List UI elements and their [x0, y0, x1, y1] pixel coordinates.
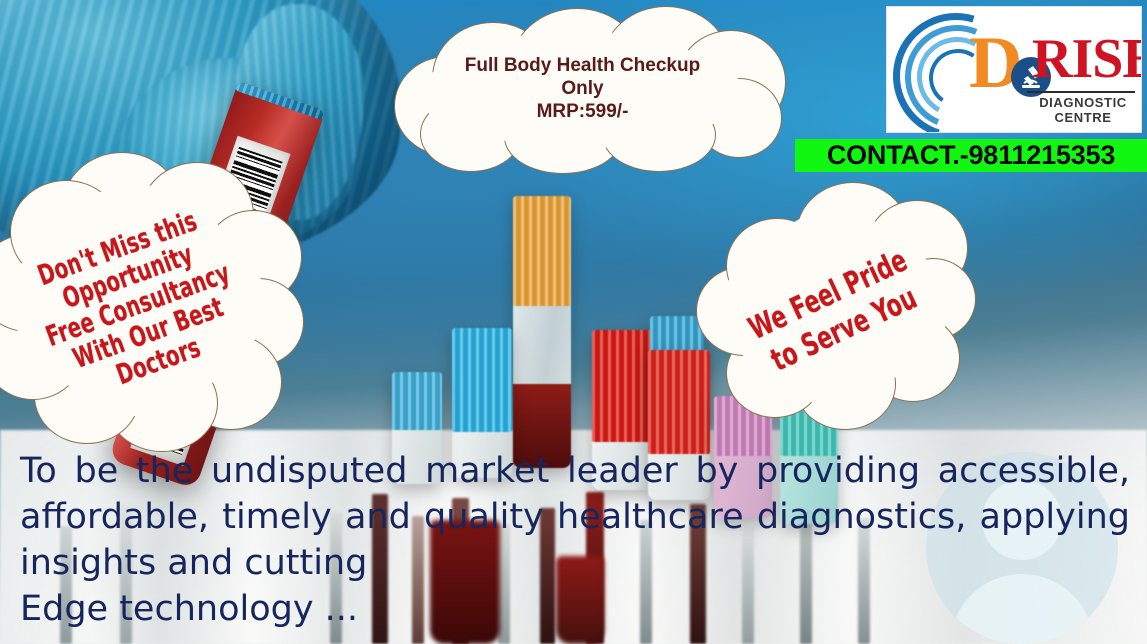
offer-line-3: MRP:599/- — [380, 100, 785, 123]
mission-body: To be the undisputed market leader by pr… — [20, 451, 1130, 583]
offer-line-1: Full Body Health Checkup — [380, 54, 785, 77]
brand-logo-panel: D RISE DIAGNOSTIC CENTRE — [886, 6, 1142, 133]
vial-cap — [513, 196, 571, 306]
logo-subtitle: DIAGNOSTIC CENTRE — [1027, 95, 1139, 125]
vial-cap — [592, 330, 654, 442]
vial-cap — [452, 328, 512, 432]
contact-bar[interactable]: CONTACT.-9811215353 — [795, 139, 1147, 172]
vial-orange-cap — [513, 196, 571, 468]
contact-text: CONTACT.-9811215353 — [827, 140, 1115, 171]
logo-wordmark-rise: RISE — [1032, 31, 1142, 87]
offer-cloud-bubble: Full Body Health Checkup Only MRP:599/- — [380, 4, 785, 172]
offer-line-2: Only — [380, 77, 785, 100]
right-cloud-bubble: We Feel Pride to Serve You — [700, 182, 972, 430]
offer-text-block: Full Body Health Checkup Only MRP:599/- — [380, 54, 785, 124]
mission-statement: To be the undisputed market leader by pr… — [20, 448, 1130, 632]
mission-last-line: Edge technology ... — [20, 586, 1130, 632]
promotional-poster: Full Body Health Checkup Only MRP:599/- … — [0, 0, 1147, 644]
left-cloud-bubble: Don't Miss this Opportunity Free Consult… — [0, 152, 292, 448]
logo-divider — [1027, 91, 1135, 93]
vial-cap — [392, 372, 442, 430]
